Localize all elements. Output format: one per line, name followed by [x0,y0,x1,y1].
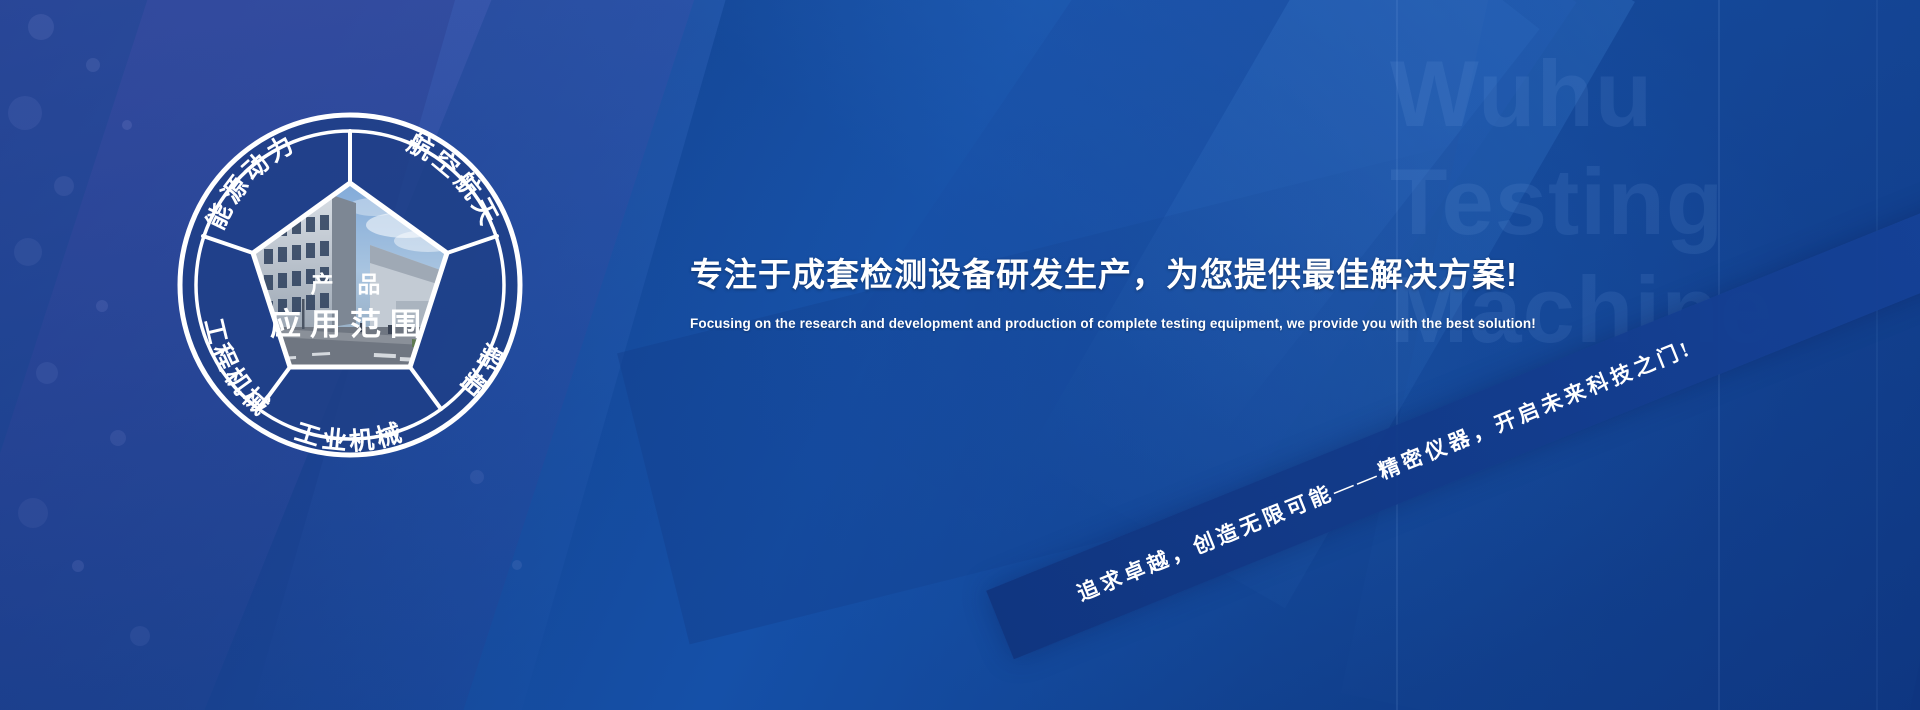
wheel-center-label-line2: 应用范围 [270,307,430,342]
banner-subheadline: Focusing on the research and development… [690,316,1450,331]
wheel-center-label-line1: 产 品 [311,271,390,297]
banner-headline: 专注于成套检测设备研发生产，为您提供最佳解决方案! [690,248,1450,296]
wheel-svg: 产 品 应用范围 能源动力 航空航天 船舶 工业机械 工程机械 [160,95,540,475]
hero-banner: WuhuTestingMachine [0,0,1920,710]
bg-vertical-stripe-3 [1876,0,1878,710]
banner-copy-block: 专注于成套检测设备研发生产，为您提供最佳解决方案! Focusing on th… [690,248,1450,331]
application-scope-wheel: 产 品 应用范围 能源动力 航空航天 船舶 工业机械 工程机械 [160,95,540,475]
